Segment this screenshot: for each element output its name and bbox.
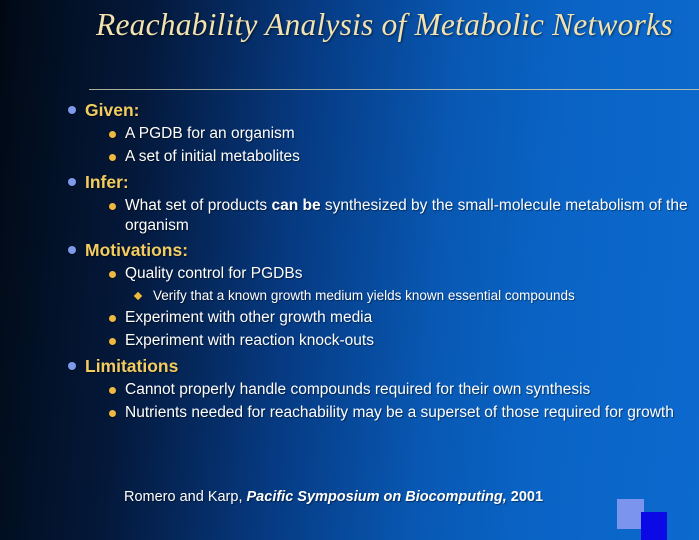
- page-title: Reachability Analysis of Metabolic Netwo…: [96, 6, 691, 44]
- bullet-diamond-icon: [134, 292, 142, 300]
- slide-body: Given: A PGDB for an organism A set of i…: [0, 99, 699, 424]
- outline-text: Experiment with reaction knock-outs: [125, 331, 699, 351]
- citation-year: 2001: [507, 489, 543, 505]
- outline-item-verify-medium: Verify that a known growth medium yields…: [0, 287, 699, 306]
- outline-item-motivations: Motivations:: [0, 239, 699, 262]
- outline-item-pgdb: A PGDB for an organism: [0, 124, 699, 145]
- outline-item-other-media: Experiment with other growth media: [0, 308, 699, 329]
- outline-item-nutrients-superset: Nutrients needed for reachability may be…: [0, 403, 699, 424]
- bullet-disc-icon: [109, 154, 116, 161]
- outline-text: A PGDB for an organism: [125, 124, 699, 144]
- outline-text: Infer:: [85, 171, 699, 193]
- bullet-disc-icon: [109, 315, 116, 322]
- decorative-square-dark: [641, 512, 667, 540]
- outline-item-quality-control: Quality control for PGDBs: [0, 264, 699, 285]
- outline-item-initial-metabolites: A set of initial metabolites: [0, 147, 699, 168]
- outline-text: Motivations:: [85, 239, 699, 261]
- citation: Romero and Karp, Pacific Symposium on Bi…: [124, 489, 543, 505]
- outline-text: A set of initial metabolites: [125, 147, 699, 167]
- outline-text: Given:: [85, 99, 699, 121]
- title-divider: [89, 89, 699, 90]
- bullet-disc-icon: [109, 203, 116, 210]
- bullet-disc-icon: [109, 271, 116, 278]
- bullet-disc-icon: [68, 106, 76, 114]
- decorative-square-light: [617, 499, 644, 529]
- citation-authors: Romero and Karp,: [124, 489, 247, 505]
- outline-item-products: What set of products can be synthesized …: [0, 196, 699, 236]
- outline-text: Limitations: [85, 355, 699, 377]
- bullet-disc-icon: [68, 246, 76, 254]
- outline-item-knock-outs: Experiment with reaction knock-outs: [0, 331, 699, 352]
- citation-publication: Pacific Symposium on Biocomputing,: [247, 489, 507, 505]
- outline-text: Experiment with other growth media: [125, 308, 699, 328]
- outline-text: Quality control for PGDBs: [125, 264, 699, 284]
- bullet-disc-icon: [109, 338, 116, 345]
- outline-item-own-synthesis: Cannot properly handle compounds require…: [0, 380, 699, 401]
- bullet-disc-icon: [109, 131, 116, 138]
- title-block: Reachability Analysis of Metabolic Netwo…: [96, 6, 691, 44]
- bullet-disc-icon: [68, 178, 76, 186]
- outline-text: Nutrients needed for reachability may be…: [125, 403, 699, 423]
- bullet-disc-icon: [109, 387, 116, 394]
- outline-item-infer: Infer:: [0, 171, 699, 194]
- outline-text: Cannot properly handle compounds require…: [125, 380, 699, 400]
- outline-text: What set of products can be synthesized …: [125, 196, 699, 236]
- outline-item-given: Given:: [0, 99, 699, 122]
- outline-item-limitations: Limitations: [0, 355, 699, 378]
- presentation-slide: Reachability Analysis of Metabolic Netwo…: [0, 0, 699, 540]
- bullet-disc-icon: [68, 362, 76, 370]
- bullet-disc-icon: [109, 410, 116, 417]
- outline-text: Verify that a known growth medium yields…: [153, 287, 699, 305]
